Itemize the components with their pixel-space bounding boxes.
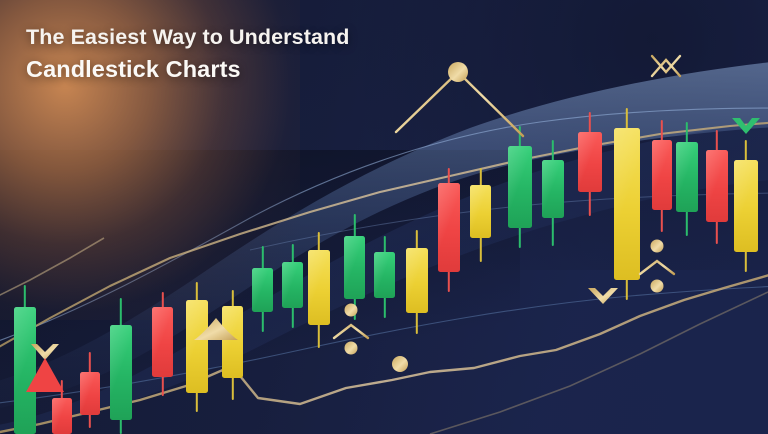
gold-balance-circle-bottom — [345, 342, 358, 355]
gold-balance-right-circle-bottom — [651, 280, 664, 293]
gold-peak-circle-icon — [448, 62, 468, 82]
title-block: The Easiest Way to Understand Candlestic… — [26, 24, 446, 84]
gold-balance-circle-top — [345, 304, 358, 317]
title-line-1: The Easiest Way to Understand — [26, 24, 446, 52]
gold-doji-cross-left-icon — [138, 160, 172, 366]
gold-chevron-down-icon — [588, 288, 618, 304]
gold-glyph-topright-icon — [648, 56, 684, 80]
gold-doji-cross-center-icon — [526, 28, 560, 232]
red-triangle-up-icon — [26, 358, 64, 392]
gold-balance-right-circle-top — [651, 240, 664, 253]
gold-chevron-up-icon — [31, 344, 59, 360]
gold-long-bar-circle — [392, 356, 408, 372]
green-chevron-down-icon — [732, 118, 760, 134]
candlestick-banner: The Easiest Way to Understand Candlestic… — [0, 0, 768, 434]
gold-plus-small-icon — [37, 390, 53, 406]
title-line-2: Candlestick Charts — [26, 54, 446, 85]
